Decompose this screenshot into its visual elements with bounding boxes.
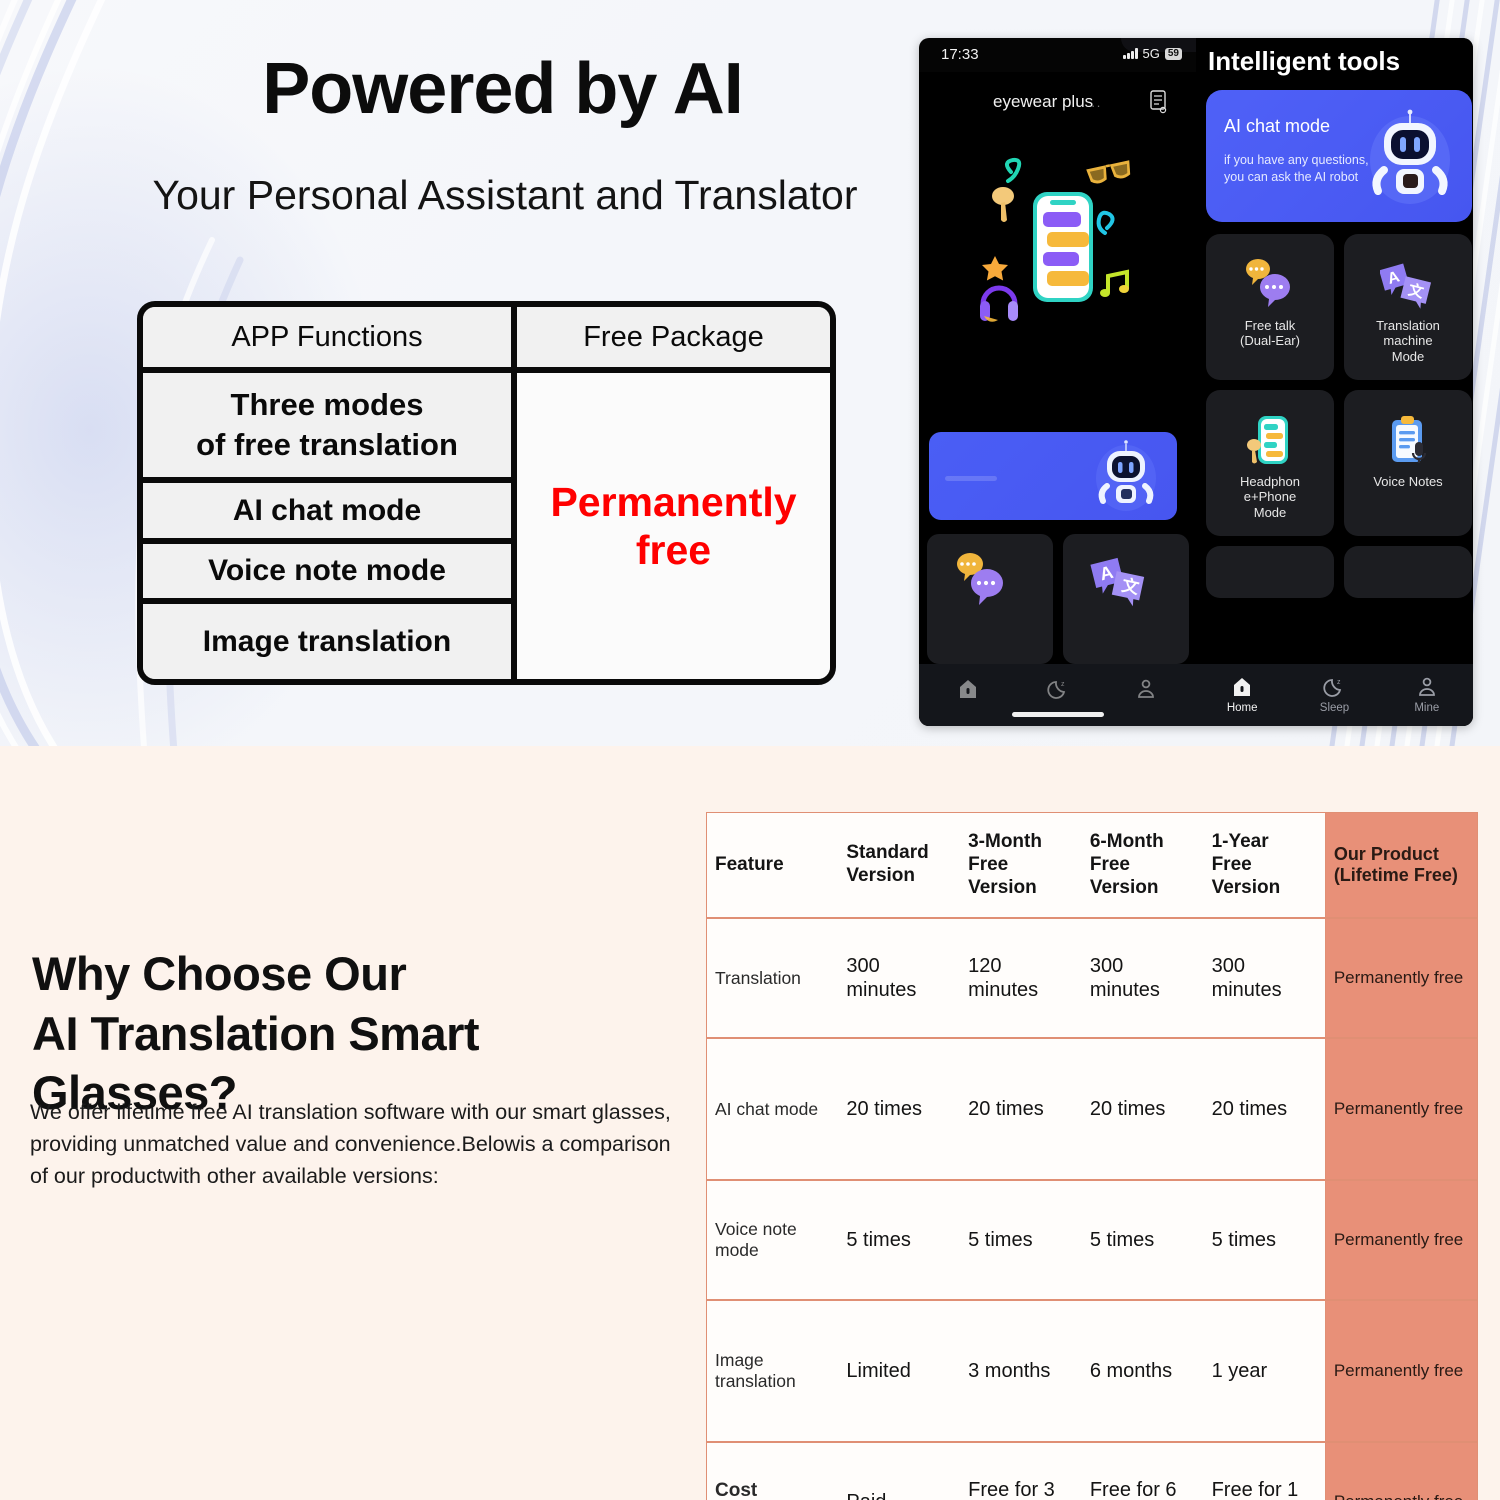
functions-column: APP Functions Three modes of free transl… <box>143 307 517 679</box>
tile-free-talk[interactable]: Free talk (Dual-Ear) <box>1206 234 1334 380</box>
col-header-standard-line2: Version <box>846 865 952 888</box>
free-package-column-header: Free Package <box>517 307 830 373</box>
nav-item-sleep[interactable]: z Sleep <box>1288 664 1380 726</box>
svg-text:z: z <box>1337 679 1341 686</box>
cell-imagetrans-1year: 1 year <box>1204 1300 1326 1442</box>
person-icon[interactable] <box>1135 678 1157 700</box>
cell-translation-6month: 300 minutes <box>1082 918 1204 1038</box>
permanently-free-line1: Permanently <box>550 478 796 526</box>
left-pane-tile-grid: A 文 <box>927 534 1189 664</box>
permanently-free-line2: free <box>550 526 796 574</box>
cell-voicenote-standard: 5 times <box>838 1180 960 1300</box>
bottom-section: Why Choose Our AI Translation Smart Glas… <box>0 746 1500 1500</box>
nav-item-mine[interactable]: Mine <box>1381 664 1473 726</box>
col-header-1year: 1-Year Free Version <box>1204 813 1326 919</box>
row-feature-image-translation: Image translation <box>707 1300 839 1442</box>
cell-imagetrans-6month: 6 months <box>1082 1300 1204 1442</box>
moon-icon: z <box>1323 676 1345 698</box>
ai-chat-mode-card[interactable]: AI chat mode if you have any questions, … <box>1206 90 1472 222</box>
robot-icon <box>1091 438 1161 514</box>
permanently-free-value: Permanently free <box>517 373 830 679</box>
tile-label-line2: (Dual-Ear) <box>1224 333 1316 348</box>
page-subtitle: Your Personal Assistant and Translator <box>110 172 900 219</box>
col-header-3month-line1: 3-Month <box>968 831 1074 854</box>
tile-label-line2: machine <box>1362 333 1454 348</box>
document-icon[interactable] <box>1149 90 1169 114</box>
phone-bottom-nav: z Home <box>919 664 1473 726</box>
tile-partial-left[interactable] <box>1206 546 1334 598</box>
col-header-6month-line1: 6-Month <box>1090 831 1196 854</box>
tile-headphone-phone-mode[interactable]: Headphon e+Phone Mode <box>1206 390 1334 536</box>
section-body-text: We offer lifetime free AI translation so… <box>30 1097 690 1192</box>
free-package-column: Free Package Permanently free <box>517 307 830 679</box>
top-section: Powered by AI Your Personal Assistant an… <box>0 0 1500 746</box>
cell-aichat-1year: 20 times <box>1204 1038 1326 1180</box>
intelligent-tools-title: Intelligent tools <box>1208 46 1400 77</box>
phone-chat-icon <box>1242 412 1298 468</box>
section-heading-line1: Why Choose Our <box>32 944 692 1004</box>
col-header-3month-line2: Free Version <box>968 854 1074 900</box>
phone-right-pane: Intelligent tools AI chat mode if you ha… <box>1196 38 1473 726</box>
tile-label-line3: Mode <box>1224 505 1316 520</box>
cell-translation-1year: 300 minutes <box>1204 918 1326 1038</box>
phone-status-bar: 17:33 5G 59 <box>919 38 1196 72</box>
cell-imagetrans-3month: 3 months <box>960 1300 1082 1442</box>
col-header-standard-line1: Standard <box>846 842 952 865</box>
table-row: Voice note mode 5 times 5 times 5 times … <box>707 1180 1478 1300</box>
cell-aichat-6month: 20 times <box>1082 1038 1204 1180</box>
function-row-voice-note-mode: Voice note mode <box>143 544 511 604</box>
phone-mockup: 17:33 5G 59 eyewear plus ·· <box>919 38 1473 726</box>
tile-translation-machine-label: Translation machine Mode <box>1362 318 1454 364</box>
intelligent-tools-grid: Free talk (Dual-Ear) A 文 <box>1206 234 1472 598</box>
row-feature-ai-chat-mode: AI chat mode <box>707 1038 839 1180</box>
table-header-row: Feature Standard Version 3-Month Free Ve… <box>707 813 1478 919</box>
ai-chat-mode-card-title: AI chat mode <box>1224 116 1330 137</box>
signal-bars-icon <box>1123 48 1138 59</box>
tile-translation-machine-compact[interactable]: A 文 <box>1063 534 1189 664</box>
table-row: Translation 300 minutes 120 minutes 300 … <box>707 918 1478 1038</box>
nav-item-mine-label: Mine <box>1414 702 1439 714</box>
moon-icon[interactable]: z <box>1047 678 1069 700</box>
table-row: Cost Efficiency Paid Free for 3 months F… <box>707 1442 1478 1500</box>
tile-free-talk-label: Free talk (Dual-Ear) <box>1224 318 1316 349</box>
row-feature-cost-efficiency: Cost Efficiency <box>707 1442 839 1500</box>
cell-cost-ours: Permanently free <box>1325 1442 1477 1500</box>
cell-cost-6month: Free for 6 months <box>1082 1442 1204 1500</box>
tile-label-line1: Voice Notes <box>1362 474 1454 489</box>
svg-text:z: z <box>1061 681 1065 688</box>
home-icon <box>1231 676 1253 698</box>
row-feature-voice-note-mode: Voice note mode <box>707 1180 839 1300</box>
functions-column-header: APP Functions <box>143 307 511 373</box>
cell-aichat-3month: 20 times <box>960 1038 1082 1180</box>
nav-item-sleep-label: Sleep <box>1320 702 1349 714</box>
tile-label-line1: Headphon <box>1224 474 1316 489</box>
tile-label-line3: Mode <box>1362 349 1454 364</box>
tile-label-line1: Free talk <box>1224 318 1316 333</box>
translate-cards-icon: A 文 <box>1089 550 1151 610</box>
nav-item-home-label: Home <box>1227 702 1258 714</box>
phone-left-pane: eyewear plus ·· <box>919 72 1196 726</box>
home-icon[interactable] <box>957 678 979 700</box>
col-header-3month: 3-Month Free Version <box>960 813 1082 919</box>
home-indicator-bar <box>1012 712 1104 717</box>
cell-voicenote-1year: 5 times <box>1204 1180 1326 1300</box>
cell-imagetrans-ours: Permanently free <box>1325 1300 1477 1442</box>
app-functions-table: APP Functions Three modes of free transl… <box>137 301 836 685</box>
col-header-feature: Feature <box>707 813 839 919</box>
row-feature-translation: Translation <box>707 918 839 1038</box>
cell-cost-standard: Paid <box>838 1442 960 1500</box>
translate-cards-icon: A 文 <box>1380 256 1436 312</box>
tile-headphone-phone-mode-label: Headphon e+Phone Mode <box>1224 474 1316 520</box>
table-row: Image translation Limited 3 months 6 mon… <box>707 1300 1478 1442</box>
ai-chat-banner-left[interactable] <box>929 432 1177 520</box>
col-header-6month: 6-Month Free Version <box>1082 813 1204 919</box>
cell-imagetrans-standard: Limited <box>838 1300 960 1442</box>
status-bar-indicators: 5G 59 <box>1123 46 1182 61</box>
tile-free-talk-compact[interactable] <box>927 534 1053 664</box>
network-type-label: 5G <box>1143 46 1160 61</box>
col-header-standard: Standard Version <box>838 813 960 919</box>
function-row-ai-chat-mode: AI chat mode <box>143 483 511 544</box>
cell-voicenote-3month: 5 times <box>960 1180 1082 1300</box>
clipboard-mic-icon <box>1380 412 1436 468</box>
col-header-our-product-line2: (Lifetime Free) <box>1334 865 1469 887</box>
col-header-6month-line2: Free Version <box>1090 854 1196 900</box>
col-header-our-product: Our Product (Lifetime Free) <box>1325 813 1477 919</box>
col-header-1year-line2: Free <box>1212 854 1317 877</box>
cell-voicenote-ours: Permanently free <box>1325 1180 1477 1300</box>
banner-placeholder-line <box>945 476 997 481</box>
tile-voice-notes[interactable]: Voice Notes <box>1344 390 1472 536</box>
cell-aichat-ours: Permanently free <box>1325 1038 1477 1180</box>
chat-bubbles-icon <box>1242 256 1298 312</box>
col-header-1year-line1: 1-Year <box>1212 831 1317 854</box>
nav-item-home[interactable]: Home <box>1196 664 1288 726</box>
tile-label-line1: Translation <box>1362 318 1454 333</box>
cell-voicenote-6month: 5 times <box>1082 1180 1204 1300</box>
page-title: Powered by AI <box>130 52 875 128</box>
cell-cost-3month: Free for 3 months <box>960 1442 1082 1500</box>
robot-avatar-icon <box>1362 106 1458 206</box>
poster-page: Powered by AI Your Personal Assistant an… <box>0 0 1500 1500</box>
col-header-1year-line3: Version <box>1212 877 1317 900</box>
device-menu-dots: ·· <box>1091 98 1102 113</box>
tile-translation-machine[interactable]: A 文 Translation machine Mode <box>1344 234 1472 380</box>
function-row-three-modes-line2: of free translation <box>196 425 458 465</box>
cell-translation-standard: 300 minutes <box>838 918 960 1038</box>
device-name-label: eyewear plus <box>993 92 1093 112</box>
glasses-chat-illustration <box>955 150 1165 350</box>
right-pane-nav: Home z Sleep Mine <box>1196 664 1473 726</box>
function-row-image-translation: Image translation <box>143 604 511 679</box>
col-header-feature-line1: Feature <box>715 854 830 877</box>
cell-cost-1year: Free for 1 year <box>1204 1442 1326 1500</box>
battery-icon: 59 <box>1165 48 1182 60</box>
chat-bubbles-icon <box>949 550 1011 610</box>
person-icon <box>1416 676 1438 698</box>
tile-voice-notes-label: Voice Notes <box>1362 474 1454 489</box>
cell-aichat-standard: 20 times <box>838 1038 960 1180</box>
status-bar-time: 17:33 <box>941 46 979 63</box>
col-header-our-product-line1: Our Product <box>1334 844 1469 866</box>
tile-label-line2: e+Phone <box>1224 489 1316 504</box>
table-row: AI chat mode 20 times 20 times 20 times … <box>707 1038 1478 1180</box>
cell-translation-3month: 120 minutes <box>960 918 1082 1038</box>
comparison-table: Feature Standard Version 3-Month Free Ve… <box>706 812 1478 1500</box>
tile-partial-right[interactable] <box>1344 546 1472 598</box>
function-row-three-modes: Three modes of free translation <box>143 373 511 483</box>
left-pane-nav: z <box>919 664 1196 726</box>
cell-translation-ours: Permanently free <box>1325 918 1477 1038</box>
function-row-three-modes-line1: Three modes <box>196 385 458 425</box>
